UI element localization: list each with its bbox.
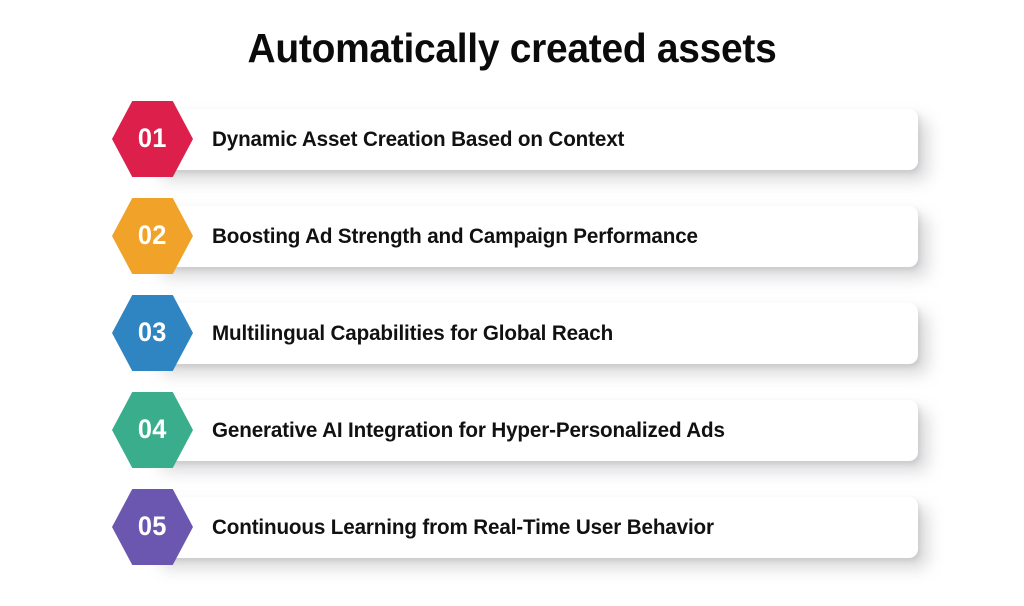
list-item-bar: Dynamic Asset Creation Based on Context: [152, 109, 918, 170]
list-item-bar: Continuous Learning from Real-Time User …: [152, 497, 918, 558]
list-item-number: 05: [138, 513, 167, 541]
list-item-label: Multilingual Capabilities for Global Rea…: [212, 303, 613, 364]
infographic-poster: Automatically created assets Dynamic Ass…: [0, 0, 1024, 606]
list-item-number: 04: [138, 416, 167, 444]
list-item-number: 03: [138, 319, 167, 347]
list-item: Multilingual Capabilities for Global Rea…: [0, 295, 1024, 371]
list-item-number: 02: [138, 222, 167, 250]
list-item: Dynamic Asset Creation Based on Context …: [0, 101, 1024, 177]
list-item-label: Boosting Ad Strength and Campaign Perfor…: [212, 206, 698, 267]
list-item-number: 01: [138, 125, 167, 153]
list-item-bar: Generative AI Integration for Hyper-Pers…: [152, 400, 918, 461]
list-item-bar: Boosting Ad Strength and Campaign Perfor…: [152, 206, 918, 267]
list-item: Generative AI Integration for Hyper-Pers…: [0, 392, 1024, 468]
page-title: Automatically created assets: [26, 22, 999, 74]
list-item-label: Continuous Learning from Real-Time User …: [212, 497, 714, 558]
list-item: Continuous Learning from Real-Time User …: [0, 489, 1024, 565]
list-item: Boosting Ad Strength and Campaign Perfor…: [0, 198, 1024, 274]
list-item-label: Generative AI Integration for Hyper-Pers…: [212, 400, 725, 461]
list-item-label: Dynamic Asset Creation Based on Context: [212, 109, 624, 170]
list-item-bar: Multilingual Capabilities for Global Rea…: [152, 303, 918, 364]
numbered-list: Dynamic Asset Creation Based on Context …: [0, 101, 1024, 565]
